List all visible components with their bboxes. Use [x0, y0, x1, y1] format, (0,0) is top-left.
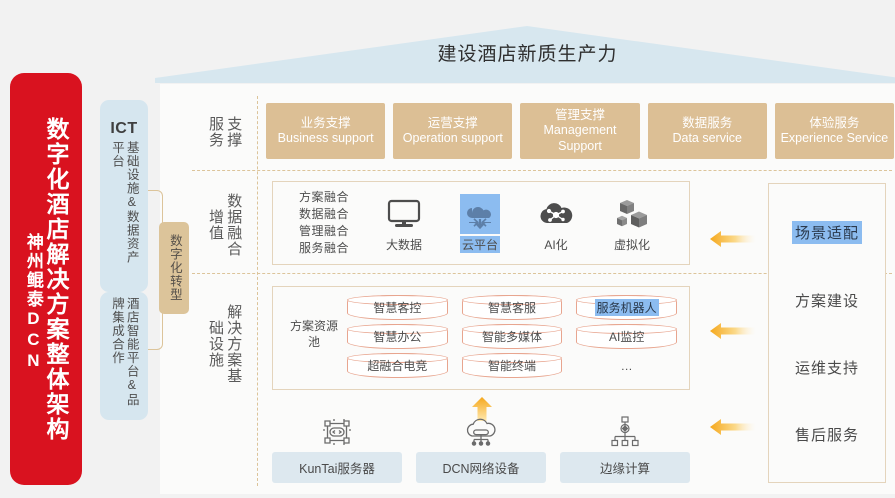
fusion-item-cloud[interactable]: 云平台 — [451, 194, 509, 253]
pool-item-label: 超融合电竞 — [367, 357, 427, 374]
fusion-item-virtualization[interactable]: 虚拟化 — [603, 194, 661, 253]
service-item-construction[interactable]: 方案建设 — [795, 290, 859, 311]
ict-title: ICT — [110, 120, 137, 138]
pool-item[interactable]: 服务机器人 — [576, 295, 677, 320]
infra-item-label: 边缘计算 — [560, 452, 690, 483]
infra-item-label: DCN网络设备 — [416, 452, 546, 483]
service-item-scene[interactable]: 场景适配 — [792, 221, 862, 244]
support-card-en: Experience Service — [781, 131, 889, 146]
support-card[interactable]: 管理支撑 Management Support — [520, 103, 639, 159]
service-item-aftersales[interactable]: 售后服务 — [795, 424, 859, 445]
left-arrow-icon-3 — [710, 418, 756, 436]
service-lifecycle-panel: 场景适配 方案建设 运维支持 售后服务 — [768, 183, 886, 483]
support-card-cn: 运营支撑 — [428, 116, 478, 131]
fusion-item-ai[interactable]: AI化 — [527, 194, 585, 253]
pool-item-label: AI监控 — [609, 328, 644, 345]
support-card[interactable]: 运营支撑 Operation support — [393, 103, 512, 159]
roof-banner: 建设酒店新质生产力 — [155, 26, 895, 83]
divider-label-column — [257, 96, 258, 486]
ict-description: 基础设施&数据资产平台 — [109, 141, 139, 273]
data-fusion-box: 方案融合 数据融合 管理融合 服务融合 大数据 — [272, 181, 690, 265]
ai-cloud-icon — [538, 194, 574, 234]
infra-item-edge[interactable]: 边缘计算 — [560, 415, 690, 483]
support-card[interactable]: 数据服务 Data service — [648, 103, 767, 159]
pool-item[interactable]: 智慧客控 — [347, 295, 448, 320]
resource-pool-grid: 智慧客控 智慧客服 服务机器人 智慧办公 智能多媒体 AI监控 超融合电竞 智能… — [347, 295, 677, 378]
pool-item-label: 智慧客控 — [373, 299, 421, 316]
support-card-cn: 体验服务 — [809, 116, 859, 131]
infra-item-server[interactable]: KunTai服务器 — [272, 415, 402, 483]
infrastructure-row: KunTai服务器 DCN网络设备 — [272, 415, 690, 483]
row-label-fusion: 数据融合增值 — [196, 192, 252, 258]
cloud-network-icon — [464, 415, 498, 449]
pool-item[interactable]: AI监控 — [576, 324, 677, 349]
pool-item[interactable]: 智慧客服 — [462, 295, 563, 320]
digital-transformation-box[interactable]: 数字化转型 — [159, 222, 189, 314]
fusion-item-label: 大数据 — [386, 236, 422, 253]
support-card[interactable]: 体验服务 Experience Service — [775, 103, 894, 159]
diagram-subtitle: 神州鲲泰DCN — [24, 233, 42, 372]
pool-item-label: … — [621, 359, 633, 373]
divider-support-fusion — [192, 170, 892, 171]
support-services-row: 业务支撑 Business support 运营支撑 Operation sup… — [266, 103, 894, 159]
pool-item-label: 智能终端 — [488, 357, 536, 374]
left-arrow-icon-1 — [710, 230, 756, 248]
pool-item[interactable]: 智能多媒体 — [462, 324, 563, 349]
fusion-type-list: 方案融合 数据融合 管理融合 服务融合 — [299, 189, 349, 257]
pool-item-label: 智慧办公 — [373, 328, 421, 345]
row-label-solution: 解决方案基础设施 — [196, 300, 252, 388]
fusion-item-label: AI化 — [544, 236, 567, 253]
ict-platform-box[interactable]: ICT 基础设施&数据资产平台 — [100, 100, 148, 292]
pool-item-label: 智慧客服 — [488, 299, 536, 316]
infra-item-label: KunTai服务器 — [272, 452, 402, 483]
diagram-title: 数字化酒店解决方案整体架构 — [44, 117, 68, 442]
row-label-support: 支撑服务 — [196, 110, 252, 154]
service-item-ops[interactable]: 运维支持 — [795, 357, 859, 378]
support-card[interactable]: 业务支撑 Business support — [266, 103, 385, 159]
edge-node-icon — [610, 415, 640, 449]
fusion-item-bigdata[interactable]: 大数据 — [375, 194, 433, 253]
support-card-cn: 业务支撑 — [301, 116, 351, 131]
pool-item-label: 智能多媒体 — [482, 328, 542, 345]
resource-pool-label: 方案资源池 — [287, 319, 341, 350]
support-card-cn: 数据服务 — [682, 116, 732, 131]
diagram-title-bar: 神州鲲泰DCN 数字化酒店解决方案整体架构 — [10, 73, 82, 485]
fusion-icon-group: 大数据 云平台 — [375, 194, 661, 253]
pool-item-label: 服务机器人 — [595, 299, 659, 316]
monitor-icon — [387, 194, 421, 234]
pool-item-more: … — [576, 353, 677, 378]
hotel-platform-box[interactable]: 酒店智能平台&品牌集成合作 — [100, 292, 148, 420]
hotel-platform-description: 酒店智能平台&品牌集成合作 — [109, 297, 139, 415]
architecture-diagram: 神州鲲泰DCN 数字化酒店解决方案整体架构 建设酒店新质生产力 支撑服务 数据融… — [0, 0, 895, 498]
pool-item[interactable]: 智能终端 — [462, 353, 563, 378]
solution-resource-pool-box: 方案资源池 智慧客控 智慧客服 服务机器人 智慧办公 智能多媒体 AI监控 超融… — [272, 286, 690, 390]
fusion-item-label: 虚拟化 — [614, 236, 650, 253]
support-card-en: Business support — [278, 131, 374, 146]
fusion-item-label: 云平台 — [460, 236, 500, 253]
support-card-cn: 管理支撑 — [555, 108, 605, 123]
cloud-sync-icon — [460, 194, 500, 234]
pool-item[interactable]: 智慧办公 — [347, 324, 448, 349]
pool-item[interactable]: 超融合电竞 — [347, 353, 448, 378]
support-card-en: Management Support — [523, 123, 636, 154]
digital-transformation-label: 数字化转型 — [167, 234, 181, 302]
infra-item-network[interactable]: DCN网络设备 — [416, 415, 546, 483]
left-arrow-icon-2 — [710, 322, 756, 340]
support-card-en: Operation support — [403, 131, 503, 146]
server-mesh-icon — [321, 415, 353, 449]
cubes-icon — [614, 194, 650, 234]
support-card-en: Data service — [672, 131, 741, 146]
roof-title: 建设酒店新质生产力 — [155, 26, 895, 83]
